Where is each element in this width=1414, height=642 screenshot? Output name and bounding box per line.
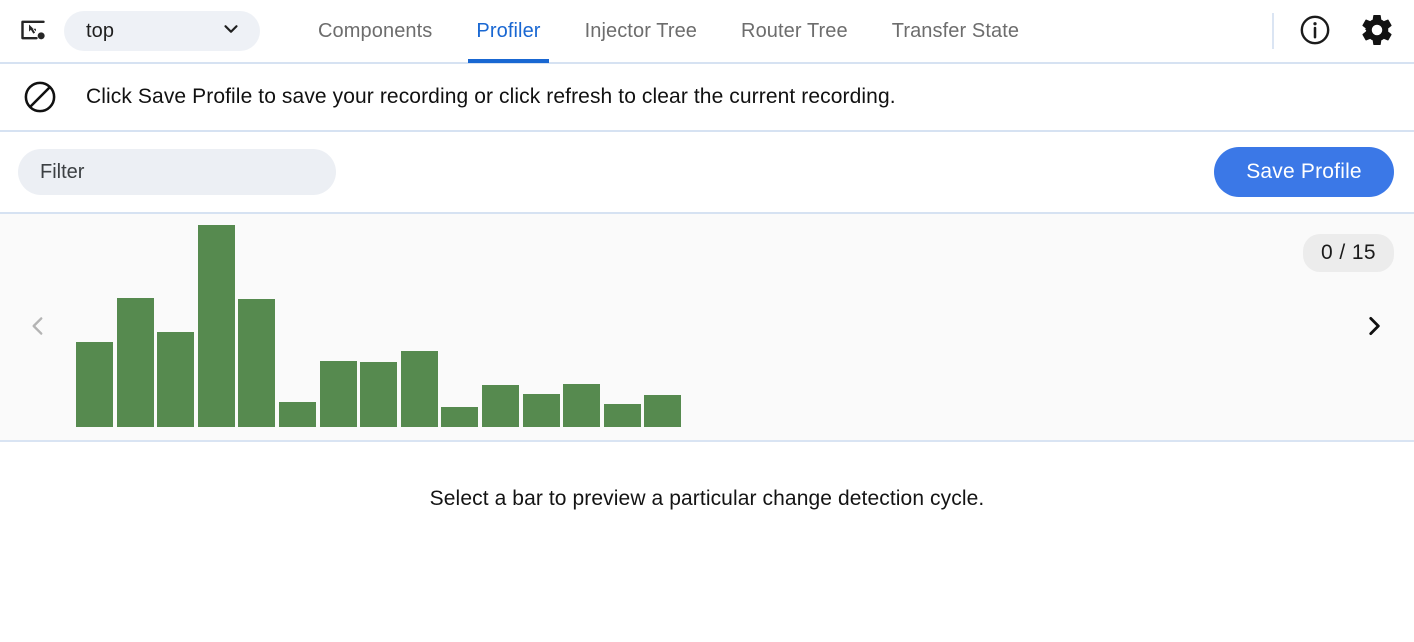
notice-message: Click Save Profile to save your recordin…	[86, 85, 896, 109]
frame-counter-badge: 0 / 15	[1303, 234, 1394, 272]
timeline-bar[interactable]	[482, 385, 519, 427]
tab-injector-tree[interactable]: Injector Tree	[563, 0, 719, 63]
previous-frame-button[interactable]	[14, 214, 62, 440]
frame-selector-value: top	[86, 20, 114, 43]
settings-button[interactable]	[1358, 12, 1396, 50]
timeline-bar[interactable]	[279, 402, 316, 427]
timeline-bar[interactable]	[563, 384, 600, 427]
tab-transfer-state[interactable]: Transfer State	[870, 0, 1041, 63]
timeline-hint: Select a bar to preview a particular cha…	[0, 442, 1414, 511]
timeline-bar[interactable]	[523, 394, 560, 427]
timeline-bar[interactable]	[157, 332, 194, 427]
timeline-bar[interactable]	[117, 298, 154, 427]
no-entry-icon	[22, 79, 58, 115]
toolbar-divider	[1272, 13, 1274, 49]
info-button[interactable]	[1296, 12, 1334, 50]
tab-components[interactable]: Components	[296, 0, 454, 63]
save-profile-button[interactable]: Save Profile	[1214, 147, 1394, 197]
controls-bar: Save Profile	[0, 132, 1414, 214]
filter-input[interactable]	[18, 149, 336, 195]
tab-label: Injector Tree	[585, 20, 697, 43]
timeline-bar[interactable]	[604, 404, 641, 427]
timeline-bar[interactable]	[441, 407, 478, 427]
timeline-bar[interactable]	[238, 299, 275, 427]
profiler-timeline: 0 / 15	[0, 214, 1414, 442]
tab-label: Router Tree	[741, 20, 848, 43]
timeline-bar[interactable]	[401, 351, 438, 427]
chevron-left-icon	[25, 309, 51, 346]
timeline-bar[interactable]	[320, 361, 357, 427]
inspect-element-icon	[19, 16, 47, 47]
tab-bar: Components Profiler Injector Tree Router…	[296, 0, 1264, 63]
notice-bar: Click Save Profile to save your recordin…	[0, 64, 1414, 132]
timeline-bars	[0, 225, 1414, 440]
gear-icon	[1359, 12, 1395, 51]
tab-label: Profiler	[476, 20, 540, 43]
frame-selector-dropdown[interactable]: top	[64, 11, 260, 51]
timeline-bar[interactable]	[644, 395, 681, 427]
tab-router-tree[interactable]: Router Tree	[719, 0, 870, 63]
chevron-down-icon	[220, 18, 242, 45]
chevron-right-icon	[1361, 309, 1387, 346]
tab-label: Components	[318, 20, 432, 43]
tab-label: Transfer State	[892, 20, 1019, 43]
timeline-bar[interactable]	[360, 362, 397, 427]
timeline-bar[interactable]	[198, 225, 235, 427]
info-circle-icon	[1298, 13, 1332, 50]
top-toolbar: top Components Profiler Injector Tree Ro…	[0, 0, 1414, 64]
tab-profiler[interactable]: Profiler	[454, 0, 562, 63]
timeline-bar[interactable]	[76, 342, 113, 427]
inspect-element-button[interactable]	[16, 14, 50, 48]
